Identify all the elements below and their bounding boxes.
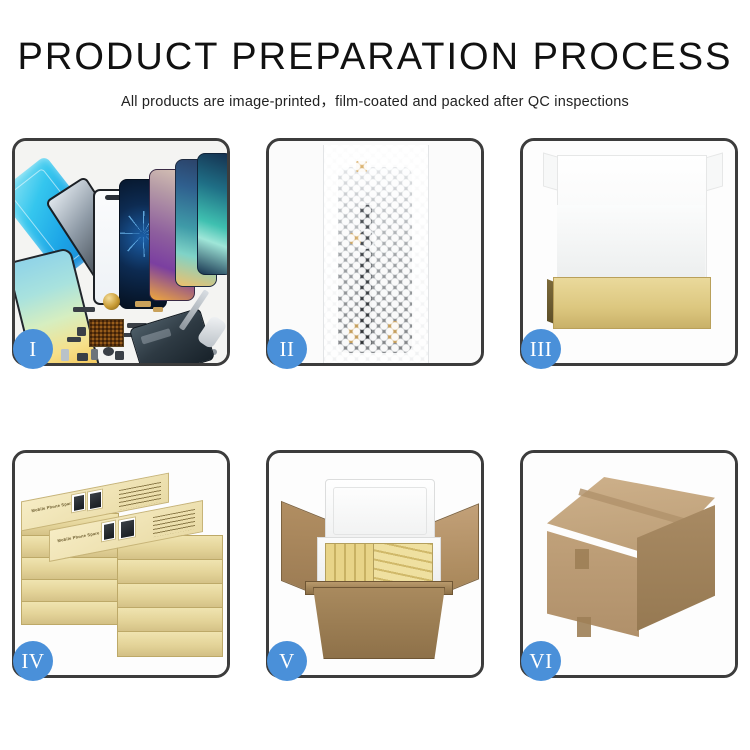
sealed-carton-illustration (523, 453, 735, 675)
bubble-bag (323, 145, 429, 363)
process-step-card-1: I (12, 138, 230, 366)
camera-module-icon (103, 293, 120, 310)
foam-box-in-carton-illustration (269, 453, 481, 675)
box-inner-face (557, 205, 705, 281)
carton-front-panel (313, 587, 445, 659)
bubble-wrap-texture (324, 145, 428, 363)
process-step-card-4: Mobile Phone Spare Parts Mobile Phone Sp… (12, 450, 230, 678)
step-badge-4: IV (13, 641, 53, 681)
box-lid-ear-right (705, 152, 723, 191)
process-step-card-3: III (520, 138, 738, 366)
header: PRODUCT PREPARATION PROCESS All products… (0, 0, 750, 111)
step-badge-3: III (521, 329, 561, 369)
box-front-panel (553, 277, 711, 329)
step-badge-5: V (267, 641, 307, 681)
carton-tab-lower (577, 617, 591, 637)
carton-tab-upper (575, 549, 589, 569)
step-badge-6: VI (521, 641, 561, 681)
page-title: PRODUCT PREPARATION PROCESS (0, 38, 750, 76)
process-step-grid: I II (12, 138, 738, 678)
step-badge-2: II (267, 329, 307, 369)
step-badge-1: I (13, 329, 53, 369)
stacked-retail-boxes-illustration: Mobile Phone Spare Parts Mobile Phone Sp… (15, 453, 227, 675)
foam-lid (325, 479, 435, 543)
logic-board-icon (89, 319, 124, 347)
bubble-wrapped-part-illustration (269, 141, 481, 363)
box-stack: Mobile Phone Spare Parts Mobile Phone Sp… (19, 471, 227, 671)
page-subtitle: All products are image-printed，film-coat… (0, 90, 750, 111)
product-lineup-illustration (15, 141, 227, 363)
process-step-card-6: VI (520, 450, 738, 678)
open-inner-box-illustration (523, 141, 735, 363)
spare-parts-group (15, 141, 227, 363)
process-step-card-2: II (266, 138, 484, 366)
process-step-card-5: V (266, 450, 484, 678)
product-preparation-infographic: PRODUCT PREPARATION PROCESS All products… (0, 0, 750, 750)
